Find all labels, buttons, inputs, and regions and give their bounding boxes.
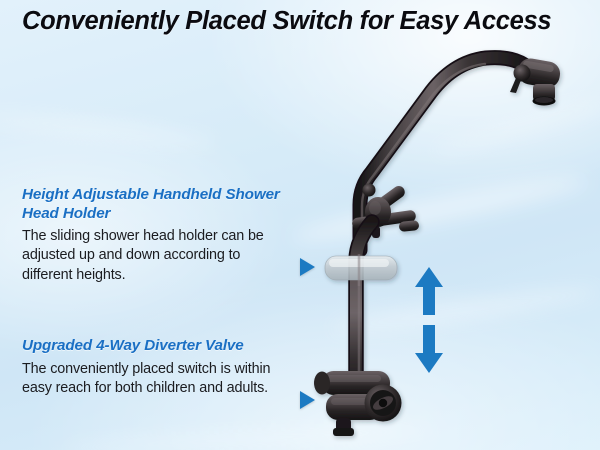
arrow-up-icon: [414, 266, 444, 316]
feature-block-2: Upgraded 4-Way Diverter Valve The conven…: [22, 337, 294, 398]
feature-body-1: The sliding shower head holder can be ad…: [22, 227, 294, 285]
feature-block-1: Height Adjustable Handheld Shower Head H…: [22, 186, 294, 285]
triangle-pointer-icon: [300, 391, 315, 409]
product-infographic: Conveniently Placed Switch for Easy Acce…: [0, 0, 600, 450]
feature-heading-1: Height Adjustable Handheld Shower Head H…: [22, 186, 294, 223]
feature-body-2: The conveniently placed switch is within…: [22, 360, 294, 399]
arrow-down-icon: [414, 324, 444, 374]
triangle-pointer-icon: [300, 258, 315, 276]
feature-heading-2: Upgraded 4-Way Diverter Valve: [22, 337, 294, 356]
